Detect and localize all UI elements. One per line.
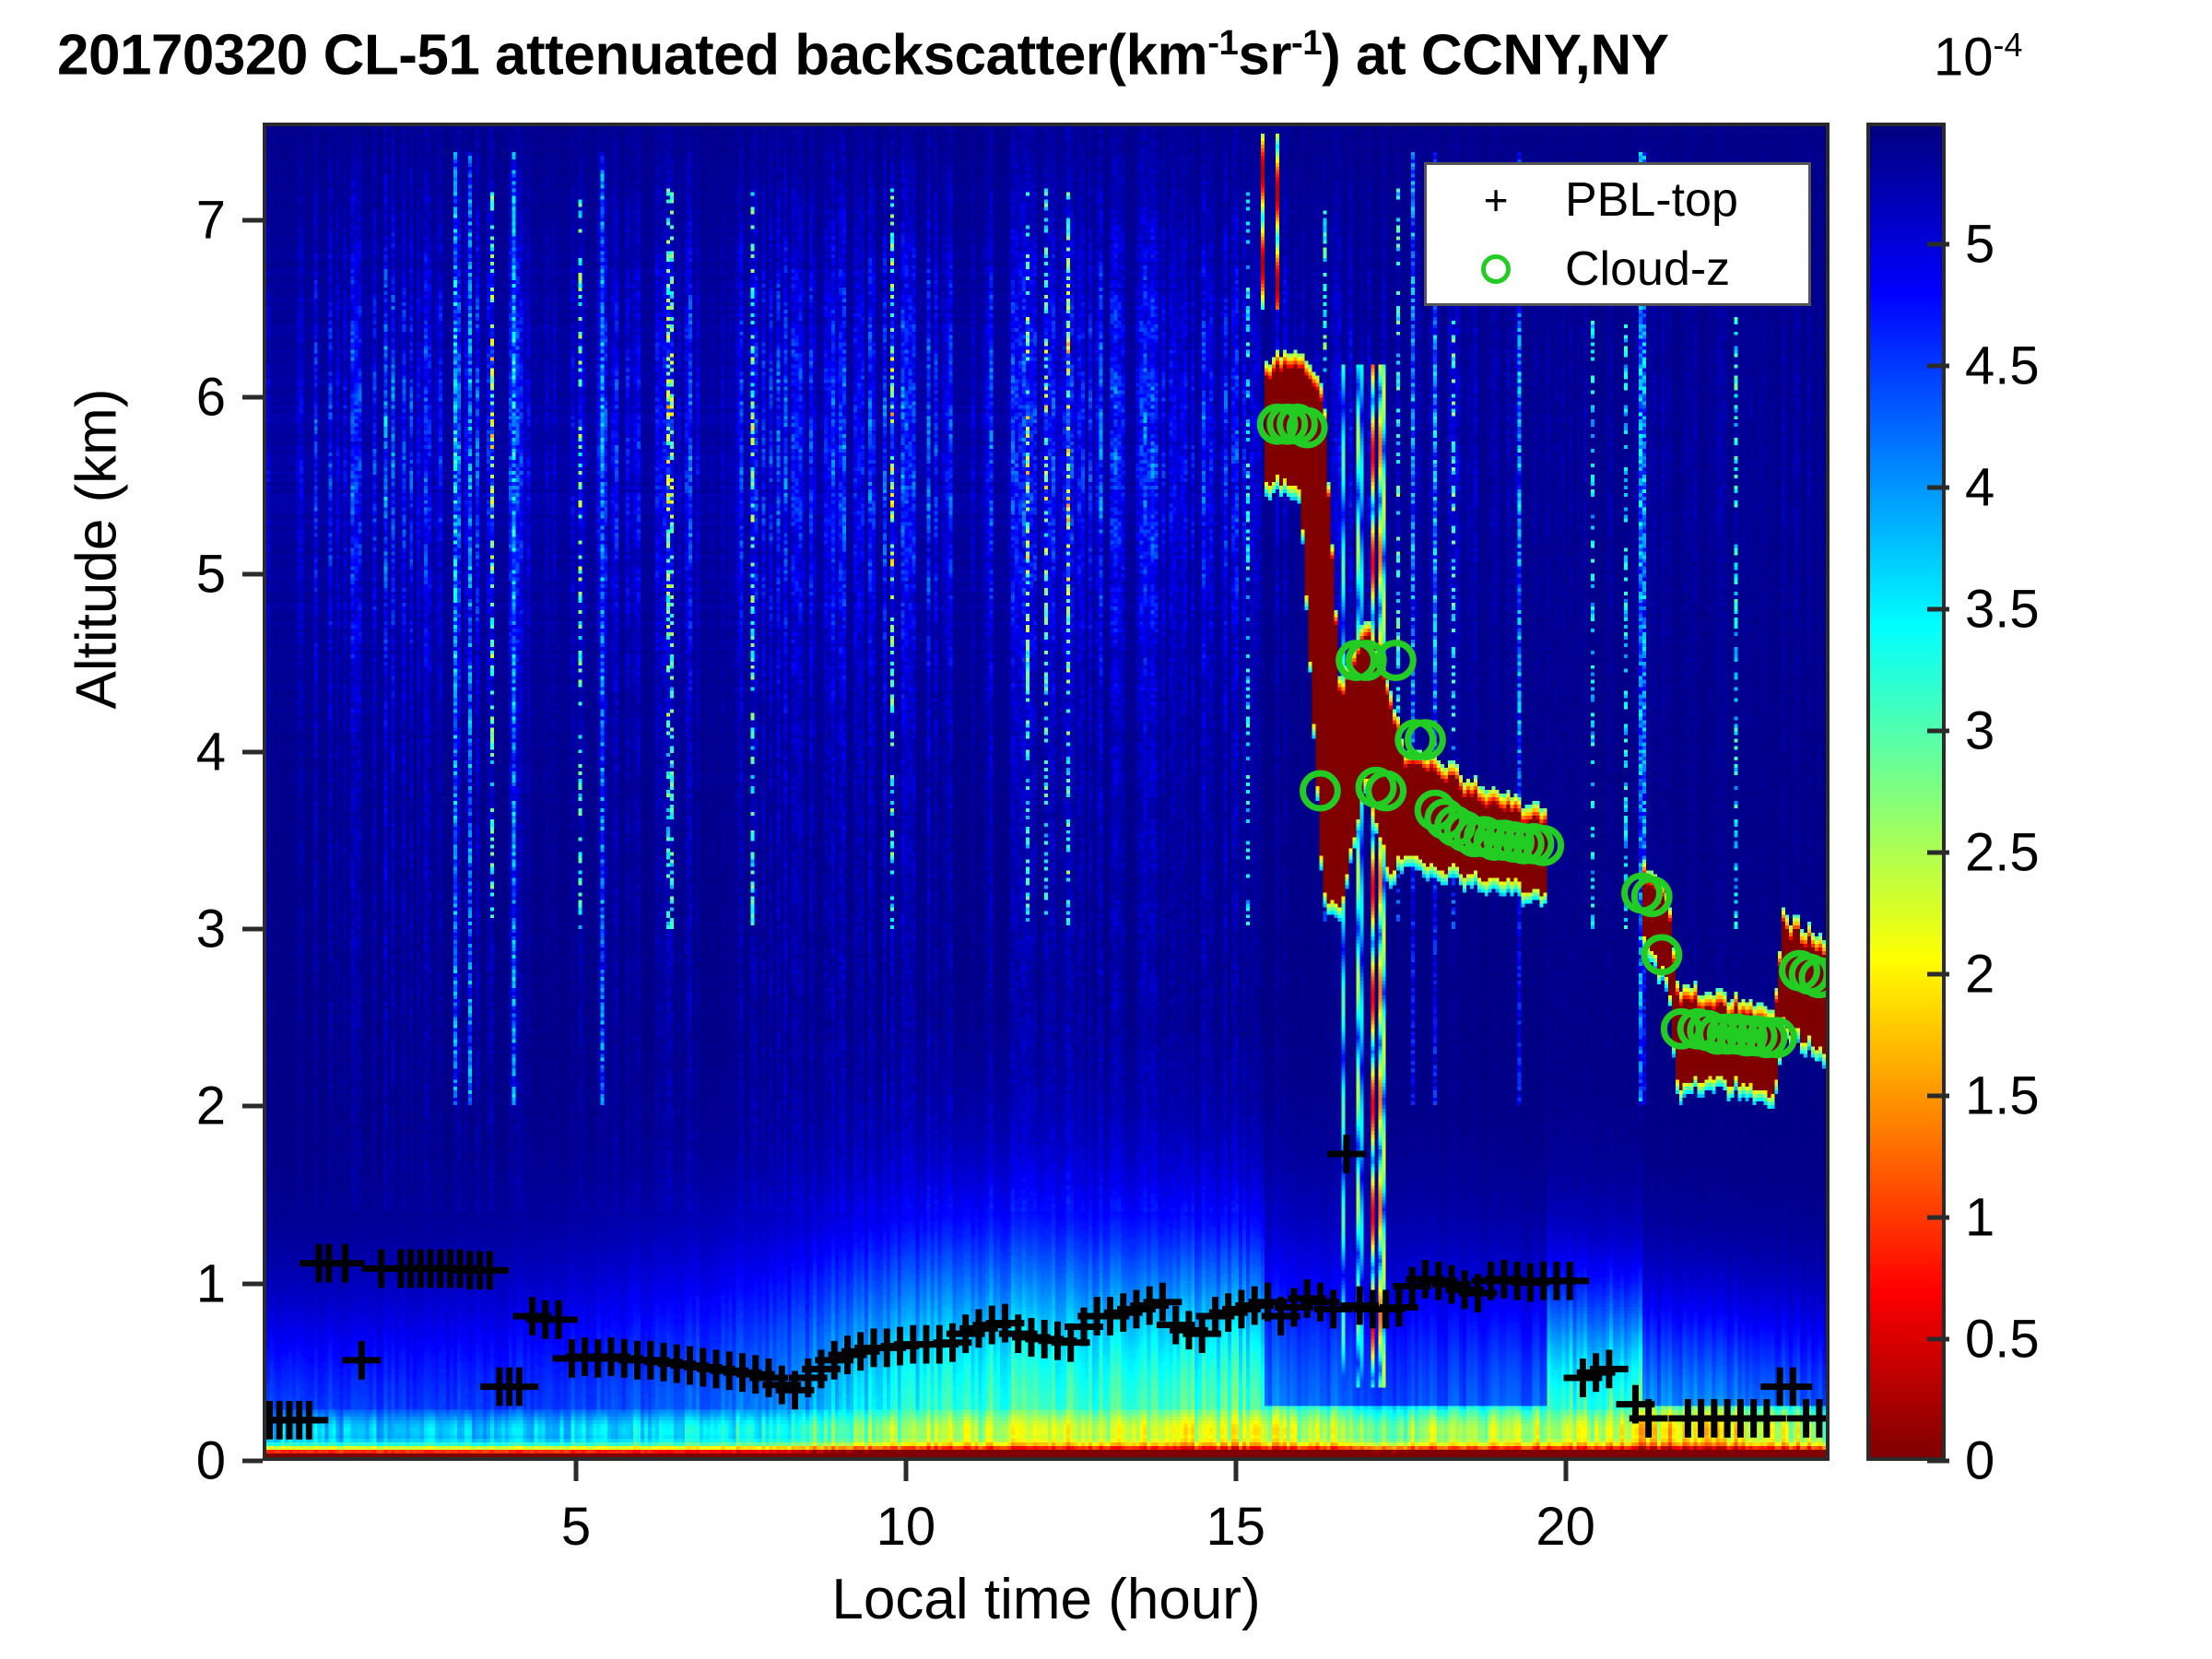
y-tick-mark xyxy=(242,218,263,222)
colorbar-tick-mark xyxy=(1927,1459,1949,1464)
colorbar-tick-label: 2 xyxy=(1965,944,1994,1006)
colorbar-tick-label: 1.5 xyxy=(1965,1065,2040,1127)
pbl-top-marker xyxy=(1327,1135,1366,1173)
x-tick-mark xyxy=(903,1461,908,1481)
y-tick-label: 1 xyxy=(115,1253,226,1314)
y-tick-label: 5 xyxy=(115,544,226,606)
circle-icon xyxy=(1427,248,1565,290)
legend-label-cloud-z: Cloud-z xyxy=(1565,241,1730,297)
x-tick-mark xyxy=(1233,1461,1238,1481)
title-mid: sr xyxy=(1238,24,1291,88)
colorbar-tick-mark xyxy=(1927,1337,1949,1342)
x-axis-label: Local time (hour) xyxy=(516,1567,1576,1632)
pbl-top-marker xyxy=(500,1368,538,1406)
colorbar-tick-label: 0.5 xyxy=(1965,1309,2040,1371)
colorbar-tick-label: 3 xyxy=(1965,700,1994,762)
marker-overlay xyxy=(266,126,1826,1457)
y-tick-label: 2 xyxy=(115,1076,226,1137)
colorbar-tick-mark xyxy=(1927,851,1949,855)
colorbar-tick-mark xyxy=(1927,1094,1949,1099)
y-tick-label: 0 xyxy=(115,1430,226,1492)
x-tick-label: 20 xyxy=(1492,1496,1640,1558)
x-tick-mark xyxy=(1563,1461,1568,1481)
cloud-z-marker xyxy=(1644,937,1679,972)
colorbar xyxy=(1866,123,1946,1461)
pbl-top-marker xyxy=(470,1251,509,1289)
colorbar-tick-mark xyxy=(1927,1216,1949,1220)
colorbar-tick-mark xyxy=(1927,972,1949,977)
colorbar-exponent-label: 10-4 xyxy=(1934,26,2022,88)
pbl-top-marker xyxy=(289,1401,328,1440)
title-main: 20170320 CL-51 attenuated backscatter(km xyxy=(57,24,1207,88)
page-title: 20170320 CL-51 attenuated backscatter(km… xyxy=(57,26,1669,85)
y-tick-mark xyxy=(242,1459,263,1464)
x-tick-label: 5 xyxy=(502,1496,650,1558)
legend: + PBL-top Cloud-z xyxy=(1424,162,1811,306)
y-tick-mark xyxy=(242,395,263,400)
pbl-top-markers xyxy=(266,1135,1826,1440)
cloud-z-marker xyxy=(1303,773,1338,808)
colorbar-tick-label: 0 xyxy=(1965,1430,1994,1492)
colorbar-tick-label: 5 xyxy=(1965,214,1994,276)
colorbar-tick-label: 3.5 xyxy=(1965,579,2040,641)
y-tick-mark xyxy=(242,572,263,577)
legend-item-cloud-z: Cloud-z xyxy=(1427,234,1808,303)
colorbar-tick-label: 4.5 xyxy=(1965,335,2040,397)
colorbar-tick-mark xyxy=(1927,364,1949,369)
title-exponent-2: -1 xyxy=(1291,23,1322,63)
heatmap-plot-area xyxy=(263,123,1830,1461)
y-tick-label: 7 xyxy=(115,189,226,251)
colorbar-gradient xyxy=(1870,126,1942,1457)
legend-item-pbl-top: + PBL-top xyxy=(1427,165,1808,234)
title-exponent-1: -1 xyxy=(1207,23,1238,63)
y-tick-mark xyxy=(242,927,263,932)
y-tick-label: 4 xyxy=(115,721,226,782)
colorbar-tick-mark xyxy=(1927,607,1949,612)
cloud-z-markers xyxy=(1260,406,1826,1054)
x-tick-mark xyxy=(574,1461,579,1481)
y-tick-mark xyxy=(242,1281,263,1286)
y-tick-mark xyxy=(242,1104,263,1109)
y-tick-label: 3 xyxy=(115,899,226,960)
colorbar-tick-mark xyxy=(1927,486,1949,490)
y-tick-label: 6 xyxy=(115,367,226,429)
x-tick-label: 10 xyxy=(832,1496,980,1558)
plus-icon: + xyxy=(1427,179,1565,221)
pbl-top-marker xyxy=(342,1341,381,1380)
colorbar-tick-label: 1 xyxy=(1965,1187,1994,1249)
colorbar-tick-mark xyxy=(1927,242,1949,247)
title-end: ) at CCNY,NY xyxy=(1322,24,1668,88)
x-tick-label: 15 xyxy=(1162,1496,1310,1558)
y-tick-mark xyxy=(242,749,263,754)
legend-label-pbl-top: PBL-top xyxy=(1565,172,1738,228)
colorbar-tick-mark xyxy=(1927,729,1949,734)
colorbar-tick-label: 4 xyxy=(1965,457,1994,519)
colorbar-tick-label: 2.5 xyxy=(1965,822,2040,884)
